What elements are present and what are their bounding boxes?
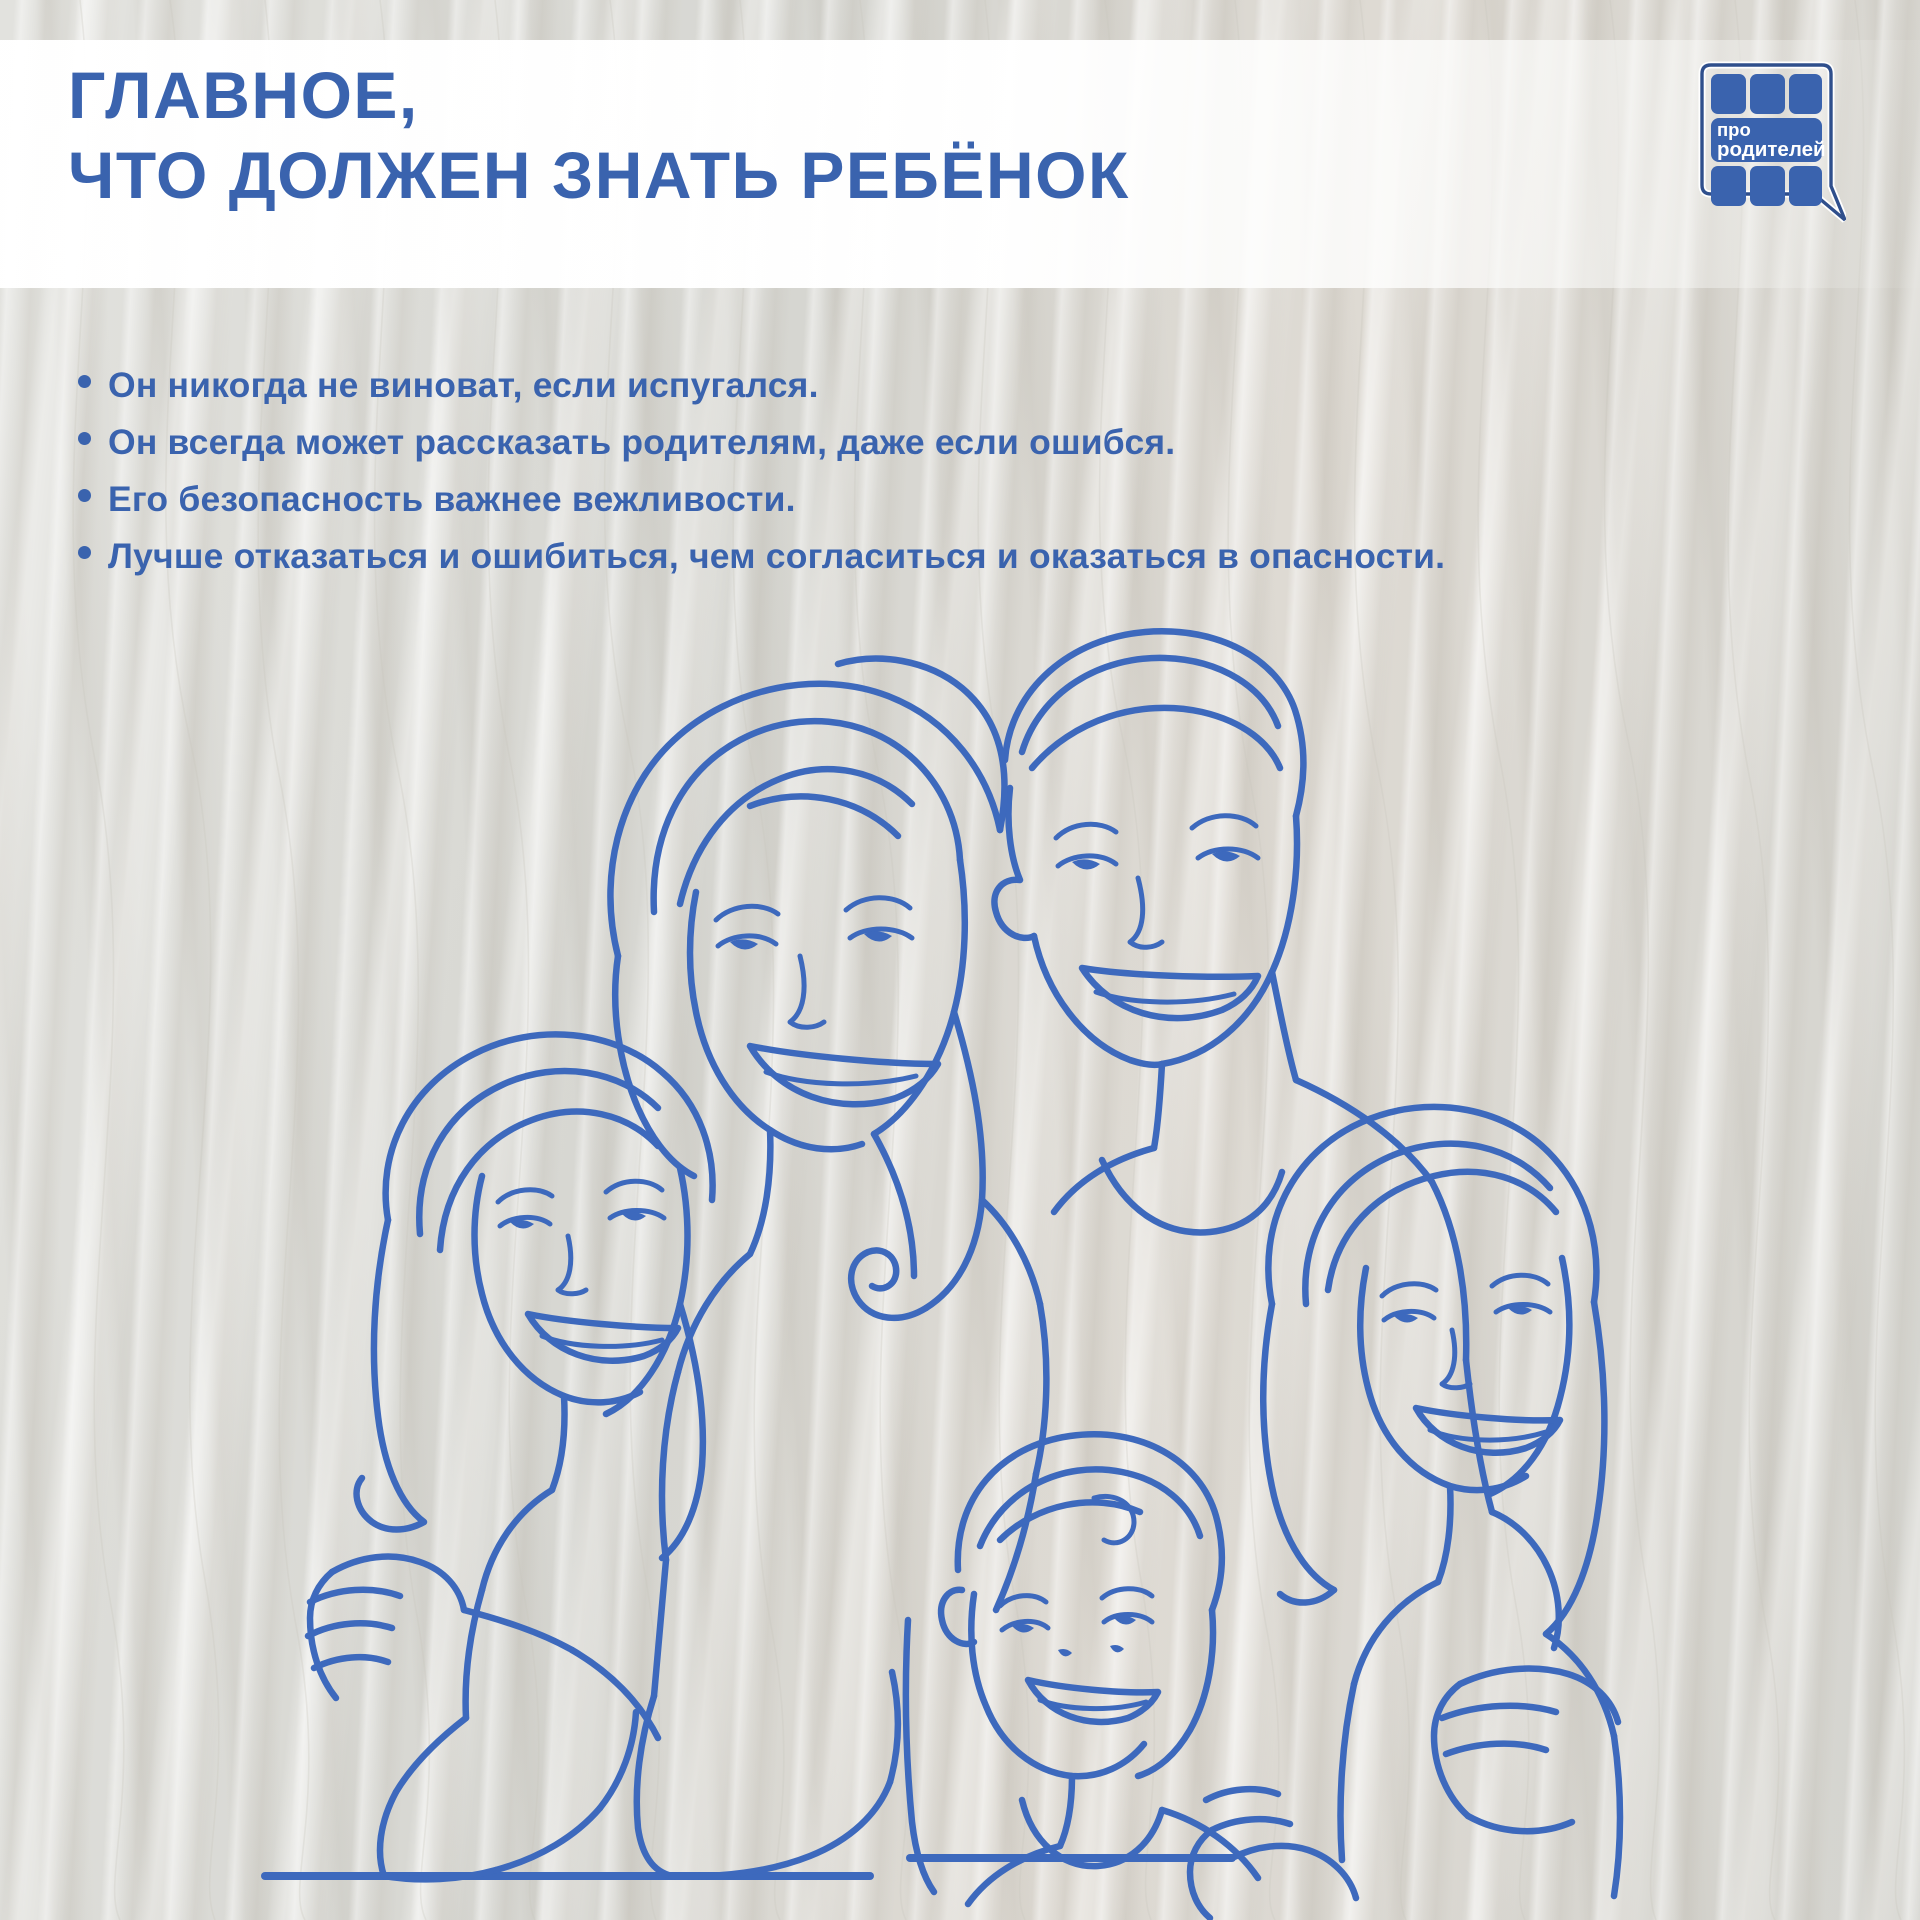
list-item-label: Лучше отказаться и ошибиться, чем соглас… — [108, 536, 1445, 577]
brand-logo[interactable]: про родителей — [1696, 60, 1846, 220]
family-line-art-illustration — [210, 560, 1640, 1920]
figure-girl-left — [308, 1034, 713, 1879]
logo-tile-6 — [1789, 166, 1822, 206]
bullet-dot-icon — [78, 432, 91, 445]
logo-tile-2 — [1750, 74, 1785, 114]
bullet-dot-icon — [78, 546, 91, 559]
logo-svg: про родителей — [1696, 60, 1846, 223]
key-points-list: Он никогда не виноват, если испугался. О… — [78, 365, 1445, 593]
list-item: Его безопасность важнее вежливости. — [78, 479, 1445, 536]
list-item-label: Он всегда может рассказать родителям, да… — [108, 422, 1175, 463]
bullet-dot-icon — [78, 375, 91, 388]
poster-canvas: ГЛАВНОЕ, ЧТО ДОЛЖЕН ЗНАТЬ РЕБЁНОК про ро… — [0, 0, 1920, 1920]
list-item: Лучше отказаться и ошибиться, чем соглас… — [78, 536, 1445, 593]
bullet-dot-icon — [78, 489, 91, 502]
list-item-label: Его безопасность важнее вежливости. — [108, 479, 796, 520]
title-line-2: ЧТО ДОЛЖЕН ЗНАТЬ РЕБЁНОК — [68, 135, 1130, 215]
logo-tile-3 — [1789, 74, 1822, 114]
figure-teen-girl-right — [1263, 1107, 1620, 1896]
list-item: Он никогда не виноват, если испугался. — [78, 365, 1445, 422]
figure-father — [994, 631, 1492, 1512]
logo-tile-1 — [1711, 74, 1746, 114]
logo-text-line-1: про — [1717, 119, 1751, 140]
hands-and-arms — [1190, 1789, 1356, 1918]
title-line-1: ГЛАВНОЕ, — [68, 55, 1130, 135]
list-item-label: Он никогда не виноват, если испугался. — [108, 365, 819, 406]
family-line-art-svg — [210, 560, 1640, 1920]
page-title: ГЛАВНОЕ, ЧТО ДОЛЖЕН ЗНАТЬ РЕБЁНОК — [68, 55, 1130, 215]
logo-tile-4 — [1711, 166, 1746, 206]
logo-tile-5 — [1750, 166, 1785, 206]
list-item: Он всегда может рассказать родителям, да… — [78, 422, 1445, 479]
logo-text-line-2: родителей — [1717, 138, 1826, 161]
